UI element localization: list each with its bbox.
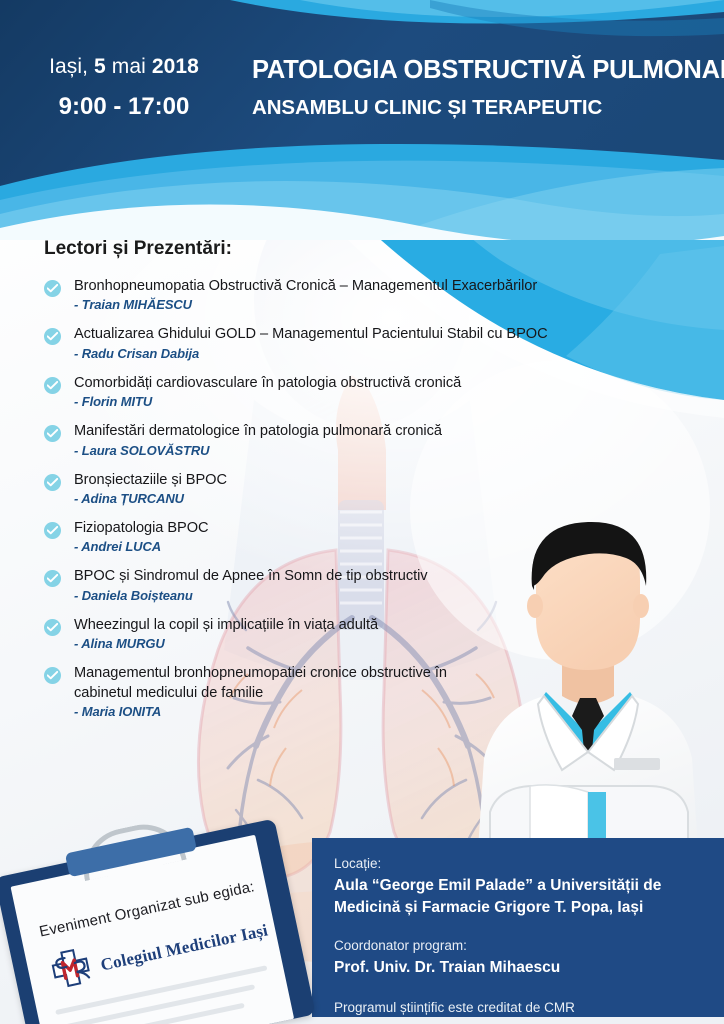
event-info-box: Locație: Aula “George Emil Palade” a Uni… xyxy=(312,838,724,1017)
lecture-author: - Adina ȚURCANU xyxy=(74,491,664,506)
poster-content: Lectori și Prezentări: Bronhopneumopatia… xyxy=(0,0,724,1024)
lecture-title: Fiziopatologia BPOC xyxy=(74,519,664,538)
credit-note: Programul științific este creditat de CM… xyxy=(334,1000,724,1015)
lecture-author: - Maria IONITA xyxy=(74,704,664,719)
check-circle-icon xyxy=(44,474,61,491)
lecture-author: - Daniela Boișteanu xyxy=(74,588,664,603)
list-item: Comorbidăți cardiovasculare în patologia… xyxy=(44,374,664,409)
check-circle-icon xyxy=(44,619,61,636)
coordinator-value: Prof. Univ. Dr. Traian Mihaescu xyxy=(334,957,724,978)
list-item: Bronhopneumopatia Obstructivă Cronică – … xyxy=(44,277,664,312)
lecture-author: - Andrei LUCA xyxy=(74,539,664,554)
list-item: Actualizarea Ghidului GOLD – Managementu… xyxy=(44,325,664,360)
coordinator-label: Coordonator program: xyxy=(334,936,724,956)
lecture-author: - Alina MURGU xyxy=(74,636,664,651)
list-item: Managementul bronhopneumopatiei cronice … xyxy=(44,664,664,719)
lecture-title: Bronșiectaziile și BPOC xyxy=(74,471,664,490)
check-circle-icon xyxy=(44,328,61,345)
list-item: BPOC și Sindromul de Apnee în Somn de ti… xyxy=(44,567,664,602)
lecture-title: Actualizarea Ghidului GOLD – Managementu… xyxy=(74,325,664,344)
checkmark-icon xyxy=(47,429,58,438)
location-value-line1: Aula “George Emil Palade” a Universități… xyxy=(334,875,724,896)
checkmark-icon xyxy=(47,381,58,390)
checkmark-icon xyxy=(47,332,58,341)
spacer xyxy=(334,918,724,936)
clipboard-graphic: Eveniment Organizat sub egida: Colegiul … xyxy=(0,818,316,1024)
check-circle-icon xyxy=(44,377,61,394)
check-circle-icon xyxy=(44,570,61,587)
location-label: Locație: xyxy=(334,854,724,874)
check-circle-icon xyxy=(44,522,61,539)
lecture-title: Wheezingul la copil și implicațiile în v… xyxy=(74,616,664,635)
list-item: Bronșiectaziile și BPOC - Adina ȚURCANU xyxy=(44,471,664,506)
organization-name: Colegiul Medicilor Iași xyxy=(99,920,270,975)
lecture-title: Comorbidăți cardiovasculare în patologia… xyxy=(74,374,664,393)
location-value-line2: Medicină și Farmacie Grigore T. Popa, Ia… xyxy=(334,897,724,918)
section-title-lecturers: Lectori și Prezentări: xyxy=(44,238,232,260)
check-circle-icon xyxy=(44,667,61,684)
lecture-title: Bronhopneumopatia Obstructivă Cronică – … xyxy=(74,277,664,296)
check-circle-icon xyxy=(44,280,61,297)
checkmark-icon xyxy=(47,574,58,583)
lecture-list: Bronhopneumopatia Obstructivă Cronică – … xyxy=(44,277,664,732)
checkmark-icon xyxy=(47,623,58,632)
poster-root: Iași, 5 mai 2018 9:00 - 17:00 PATOLOGIA … xyxy=(0,0,724,1024)
lecture-title: Managementul bronhopneumopatiei cronice … xyxy=(74,664,474,703)
list-item: Wheezingul la copil și implicațiile în v… xyxy=(44,616,664,651)
cmr-logo-icon xyxy=(47,944,97,994)
lecture-author: - Radu Crisan Dabija xyxy=(74,346,664,361)
check-circle-icon xyxy=(44,425,61,442)
checkmark-icon xyxy=(47,284,58,293)
list-item: Fiziopatologia BPOC - Andrei LUCA xyxy=(44,519,664,554)
lecture-title: BPOC și Sindromul de Apnee în Somn de ti… xyxy=(74,567,664,586)
checkmark-icon xyxy=(47,478,58,487)
checkmark-icon xyxy=(47,671,58,680)
checkmark-icon xyxy=(47,526,58,535)
lecture-author: - Florin MITU xyxy=(74,394,664,409)
lecture-title: Manifestări dermatologice în patologia p… xyxy=(74,422,664,441)
list-item: Manifestări dermatologice în patologia p… xyxy=(44,422,664,457)
lecture-author: - Laura SOLOVĂSTRU xyxy=(74,443,664,458)
lecture-author: - Traian MIHĂESCU xyxy=(74,297,664,312)
